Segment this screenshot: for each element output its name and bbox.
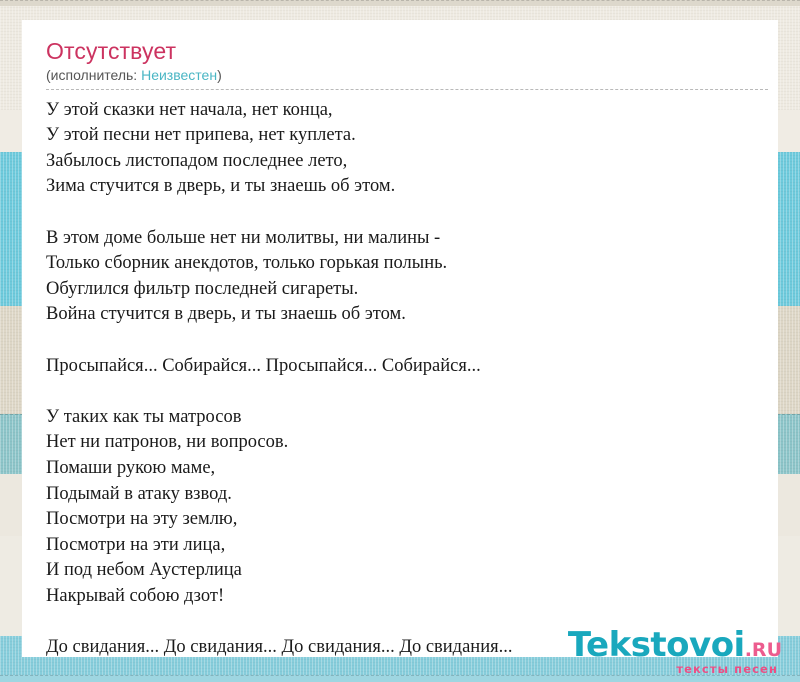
lyrics-line: Нет ни патронов, ни вопросов. xyxy=(46,430,754,456)
lyrics-stanza-1: У этой сказки нет начала, нет конца,У эт… xyxy=(46,98,754,200)
artist-suffix-label: ) xyxy=(217,67,222,83)
watermark-tagline: тексты песен xyxy=(568,664,782,676)
lyrics-line: И под небом Аустерлица xyxy=(46,558,754,584)
lyrics-card: Отсутствует (исполнитель: Неизвестен) У … xyxy=(22,20,778,657)
lyrics-body: У этой сказки нет начала, нет конца,У эт… xyxy=(46,96,754,657)
artist-link[interactable]: Неизвестен xyxy=(141,67,217,83)
artist-prefix-label: (исполнитель: xyxy=(46,67,141,83)
lyrics-line: Обуглился фильтр последней сигареты. xyxy=(46,277,754,303)
page-title: Отсутствует xyxy=(46,38,754,64)
lyrics-line: У этой сказки нет начала, нет конца, xyxy=(46,98,754,124)
page-root: Отсутствует (исполнитель: Неизвестен) У … xyxy=(0,0,800,681)
lyrics-line: Посмотри на эту землю, xyxy=(46,507,754,533)
watermark-tld: .RU xyxy=(745,639,782,661)
lyrics-line: Подымай в атаку взвод. xyxy=(46,482,754,508)
lyrics-stanza-3: Просыпайся... Собирайся... Просыпайся...… xyxy=(46,354,754,380)
lyrics-line: У таких как ты матросов xyxy=(46,405,754,431)
watermark-name: Tekstovoi xyxy=(568,625,745,665)
lyrics-card-inner: Отсутствует (исполнитель: Неизвестен) У … xyxy=(22,20,778,657)
artist-line: (исполнитель: Неизвестен) xyxy=(46,66,754,88)
lyrics-line: В этом доме больше нет ни молитвы, ни ма… xyxy=(46,226,754,252)
header-divider xyxy=(46,89,768,90)
lyrics-line: Посмотри на эти лица, xyxy=(46,533,754,559)
lyrics-line: Просыпайся... Собирайся... Просыпайся...… xyxy=(46,354,754,380)
lyrics-stanza-2: В этом доме больше нет ни молитвы, ни ма… xyxy=(46,226,754,328)
site-watermark: Tekstovoi.RU тексты песен xyxy=(568,628,782,676)
lyrics-line: У этой песни нет припева, нет куплета. xyxy=(46,123,754,149)
lyrics-line: Помаши рукою маме, xyxy=(46,456,754,482)
lyrics-line: Война стучится в дверь, и ты знаешь об э… xyxy=(46,302,754,328)
lyrics-stanza-4: У таких как ты матросовНет ни патронов, … xyxy=(46,405,754,610)
watermark-wordmark: Tekstovoi.RU xyxy=(568,628,782,662)
lyrics-line: Только сборник анекдотов, только горькая… xyxy=(46,251,754,277)
lyrics-line: Забылось листопадом последнее лето, xyxy=(46,149,754,175)
lyrics-line: Накрывай собою дзот! xyxy=(46,584,754,610)
lyrics-line: Зима стучится в дверь, и ты знаешь об эт… xyxy=(46,174,754,200)
